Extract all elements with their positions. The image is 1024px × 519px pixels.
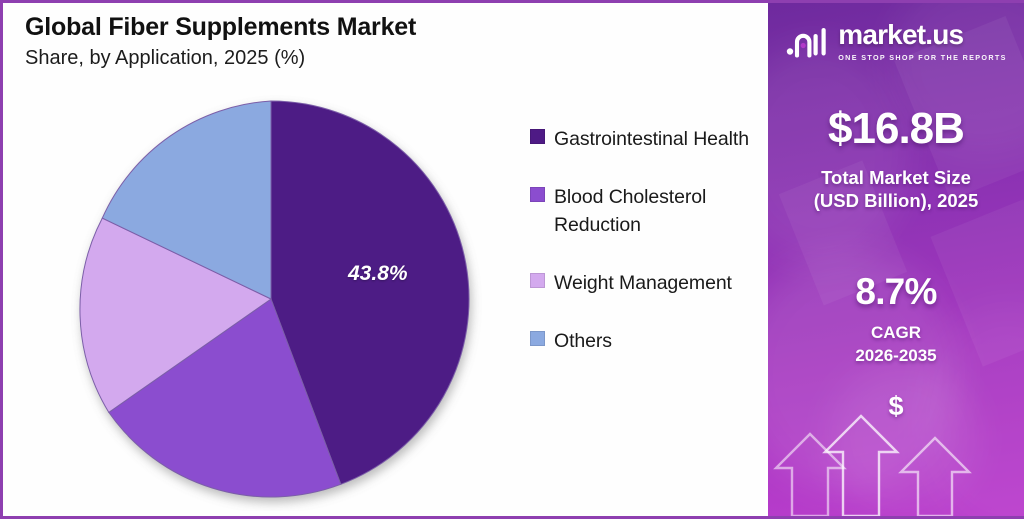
legend-item-label: Blood Cholesterol Reduction bbox=[554, 183, 750, 240]
market-size-stat: $16.8B Total Market Size (USD Billion), … bbox=[768, 107, 1024, 212]
legend-item-weight-management[interactable]: Weight Management bbox=[530, 269, 755, 298]
chart-pane: Global Fiber Supplements Market Share, b… bbox=[3, 3, 765, 516]
legend-swatch-icon bbox=[530, 129, 545, 144]
growth-arrows-icon bbox=[768, 396, 1024, 516]
legend-swatch-icon bbox=[530, 273, 545, 288]
infographic-frame: Global Fiber Supplements Market Share, b… bbox=[0, 0, 1024, 519]
cagr-caption-line1: CAGR bbox=[768, 322, 1024, 345]
legend-item-label: Gastrointestinal Health bbox=[554, 125, 749, 154]
legend-item-others[interactable]: Others bbox=[530, 327, 755, 356]
legend-item-blood-cholesterol-reduction[interactable]: Blood Cholesterol Reduction bbox=[530, 183, 755, 240]
pie-data-label-gastrointestinal-health: 43.8% bbox=[348, 262, 408, 286]
market-size-value: $16.8B bbox=[768, 107, 1024, 151]
market-us-logo-icon bbox=[785, 25, 831, 59]
cagr-caption-line2: 2026-2035 bbox=[768, 345, 1024, 368]
cagr-caption: CAGR 2026-2035 bbox=[768, 322, 1024, 368]
legend-swatch-icon bbox=[530, 331, 545, 346]
brand-tagline: ONE STOP SHOP FOR THE REPORTS bbox=[838, 53, 1007, 62]
stats-panel: market.us ONE STOP SHOP FOR THE REPORTS … bbox=[768, 3, 1024, 516]
cagr-stat: 8.7% CAGR 2026-2035 bbox=[768, 273, 1024, 368]
brand-name: market.us bbox=[838, 21, 1007, 49]
cagr-value: 8.7% bbox=[768, 273, 1024, 310]
legend-item-gastrointestinal-health[interactable]: Gastrointestinal Health bbox=[530, 125, 755, 154]
pie-slices bbox=[80, 101, 469, 497]
pie-chart: 43.8% bbox=[3, 3, 563, 516]
pie-chart-svg bbox=[63, 91, 483, 511]
legend-item-label: Others bbox=[554, 327, 612, 356]
market-size-caption-line2: (USD Billion), 2025 bbox=[768, 189, 1024, 212]
market-size-caption-line1: Total Market Size bbox=[768, 166, 1024, 189]
market-size-caption: Total Market Size (USD Billion), 2025 bbox=[768, 166, 1024, 212]
legend-swatch-icon bbox=[530, 187, 545, 202]
legend-item-label: Weight Management bbox=[554, 269, 732, 298]
chart-legend: Gastrointestinal Health Blood Cholestero… bbox=[530, 125, 755, 384]
brand-logo: market.us ONE STOP SHOP FOR THE REPORTS bbox=[768, 21, 1024, 64]
